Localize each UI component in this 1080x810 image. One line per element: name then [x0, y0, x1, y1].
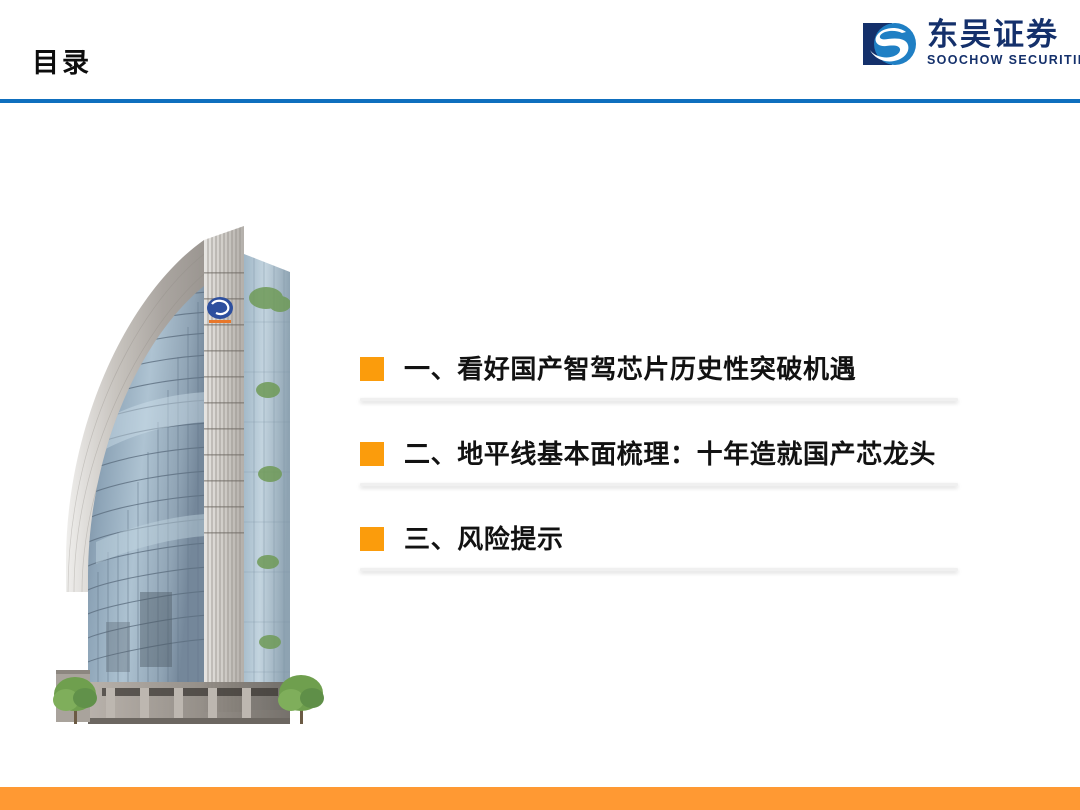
agenda-row-3: 三、风险提示 [360, 510, 960, 595]
agenda-item-1-label: 一、看好国产智驾芯片历史性突破机遇 [404, 356, 856, 382]
agenda-item-2[interactable]: 二、地平线基本面梳理：十年造就国产芯龙头 [360, 425, 960, 483]
bullet-square-icon [360, 527, 384, 551]
agenda-row-1: 一、看好国产智驾芯片历史性突破机遇 [360, 340, 960, 425]
agenda-item-3[interactable]: 三、风险提示 [360, 510, 960, 568]
brand-name-en: SOOCHOW SECURITIES [927, 54, 1080, 67]
agenda-list: 一、看好国产智驾芯片历史性突破机遇 二、地平线基本面梳理：十年造就国产芯龙头 三… [360, 340, 960, 595]
soochow-s-ribbon-logo-icon [862, 19, 918, 69]
footer-accent-bar [0, 787, 1080, 810]
brand-name-cn: 东吴证券 [927, 18, 1080, 51]
agenda-divider-1 [360, 398, 958, 401]
page-title: 目录 [32, 50, 92, 77]
agenda-item-3-label: 三、风险提示 [404, 526, 564, 552]
agenda-item-1[interactable]: 一、看好国产智驾芯片历史性突破机遇 [360, 340, 960, 398]
header-divider-rule [0, 99, 1080, 103]
building-illustration-icon [44, 122, 336, 730]
brand-logo: 东吴证券 SOOCHOW SECURITIES [862, 18, 1068, 80]
bullet-square-icon [360, 357, 384, 381]
headquarters-building-image [44, 122, 336, 730]
agenda-item-2-label: 二、地平线基本面梳理：十年造就国产芯龙头 [404, 441, 936, 467]
agenda-row-2: 二、地平线基本面梳理：十年造就国产芯龙头 [360, 425, 960, 510]
slide-canvas: 目录 东吴证券 SOOCHOW SECURITIES [0, 0, 1080, 810]
bullet-square-icon [360, 442, 384, 466]
agenda-divider-3 [360, 568, 958, 571]
agenda-divider-2 [360, 483, 958, 486]
brand-wordmark: 东吴证券 SOOCHOW SECURITIES [927, 18, 1080, 67]
